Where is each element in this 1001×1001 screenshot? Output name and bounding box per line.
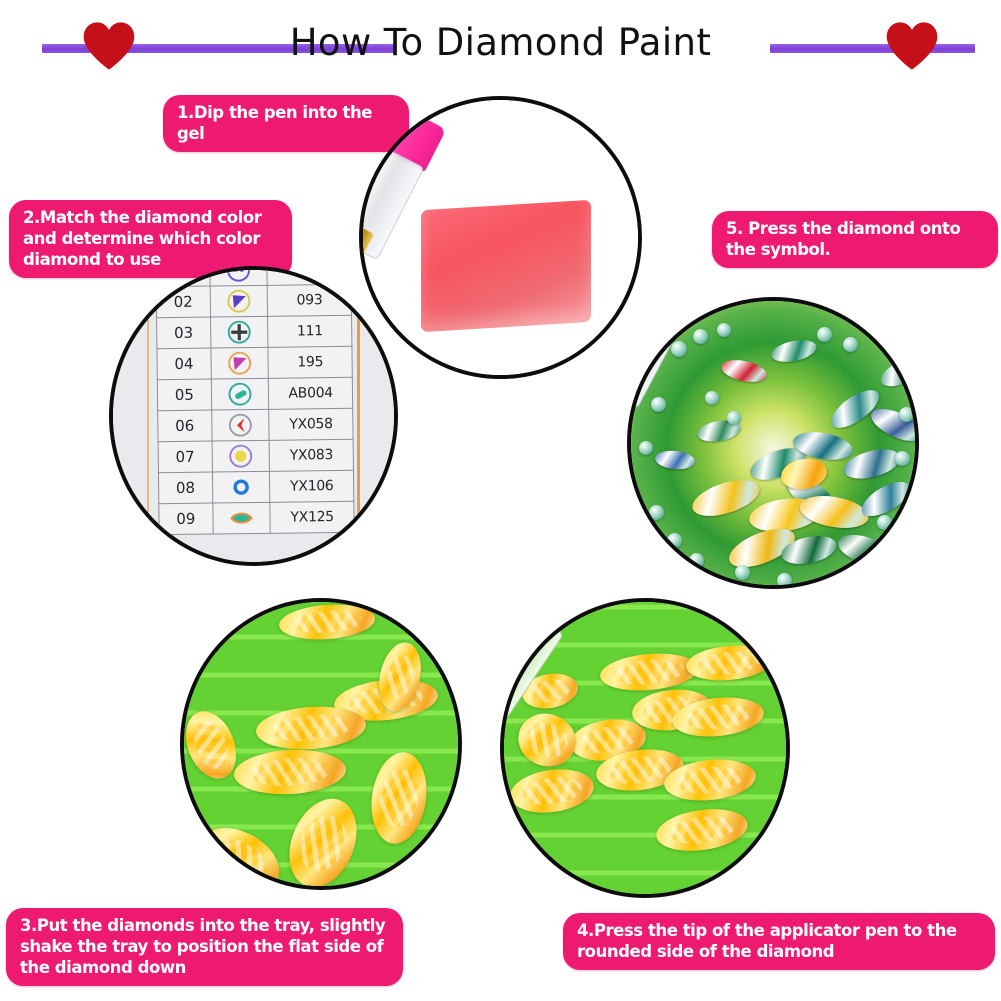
chart-row-code: YX106 <box>270 470 354 502</box>
chart-row-index: 03 <box>157 317 211 349</box>
step-2-photo: 0102802093031110419505AB00406YX05807YX08… <box>109 266 398 566</box>
canvas-guide-line <box>147 270 149 562</box>
plus-icon <box>210 316 268 348</box>
diamond <box>883 321 897 335</box>
chart-row-index: 05 <box>157 379 211 411</box>
color-chart-row: 02093 <box>156 284 351 317</box>
chart-row-index: 07 <box>158 441 212 473</box>
diamond <box>717 323 731 337</box>
chart-row-code: YX083 <box>269 439 353 471</box>
color-symbol-chart: 0102802093031110419505AB00406YX05807YX08… <box>155 266 354 535</box>
diamond <box>843 337 858 352</box>
filled-dot-icon <box>212 440 270 472</box>
leaf-icon <box>213 502 271 534</box>
color-chart-row: 07YX083 <box>158 439 353 472</box>
color-chart-row: 01028 <box>156 266 351 287</box>
color-chart-body: 0102802093031110419505AB00406YX05807YX08… <box>156 266 354 535</box>
chart-row-code: 093 <box>268 284 352 316</box>
color-chart-row: 06YX058 <box>158 408 353 441</box>
diamond <box>651 397 666 412</box>
diamond <box>705 391 719 405</box>
diamond <box>817 327 832 342</box>
chart-row-index: 01 <box>156 266 210 287</box>
diamond <box>777 573 792 588</box>
step-5-label: 5. Press the diamond onto the symbol. <box>712 211 998 268</box>
color-chart-row: 08YX106 <box>158 470 353 503</box>
ring-icon <box>212 471 270 503</box>
chart-row-index: 09 <box>159 503 213 535</box>
diamond <box>689 553 704 568</box>
chart-row-code: 195 <box>268 346 352 378</box>
step-4-photo <box>500 598 790 898</box>
diamond <box>693 329 708 344</box>
diamond <box>861 553 876 568</box>
chart-row-index: 02 <box>156 286 210 318</box>
diamond <box>639 441 653 455</box>
step-3-photo <box>180 598 462 890</box>
diamond <box>727 411 741 425</box>
diamond <box>735 565 750 580</box>
chart-row-index: 04 <box>157 348 211 380</box>
chart-row-index: 06 <box>158 410 212 442</box>
diamond <box>877 515 892 530</box>
chart-row-index: 08 <box>158 472 212 504</box>
step-1-photo <box>359 96 642 379</box>
diamond <box>667 533 682 548</box>
triangle-icon <box>211 347 269 379</box>
canvas-edge-line <box>357 270 360 562</box>
chart-row-code: YX125 <box>270 501 354 533</box>
infographic-page: How To Diamond Paint 1.Dip the pen into … <box>0 0 1001 1001</box>
color-chart-row: 03111 <box>157 315 352 348</box>
step-4-label: 4.Press the tip of the applicator pen to… <box>563 913 995 970</box>
step-3-label: 3.Put the diamonds into the tray, slight… <box>6 908 403 986</box>
bar-icon <box>211 378 269 410</box>
chart-row-code: AB004 <box>269 377 353 409</box>
color-chart-row: 05AB004 <box>157 377 352 410</box>
chart-row-code: 028 <box>267 266 351 285</box>
diamond <box>671 341 687 357</box>
diamond <box>649 505 664 520</box>
step-5-photo <box>627 297 919 589</box>
header: How To Diamond Paint <box>0 0 1001 86</box>
triangle-icon <box>210 285 268 317</box>
gel-pad <box>421 200 591 332</box>
page-title: How To Diamond Paint <box>0 18 1001 68</box>
color-chart-row: 04195 <box>157 346 352 379</box>
color-chart-row: 09YX125 <box>159 501 354 534</box>
diamond <box>899 407 914 422</box>
chart-row-code: 111 <box>268 315 352 347</box>
chart-row-code: YX058 <box>269 408 353 440</box>
diamond <box>895 451 910 466</box>
left-arrow-icon <box>211 409 269 441</box>
